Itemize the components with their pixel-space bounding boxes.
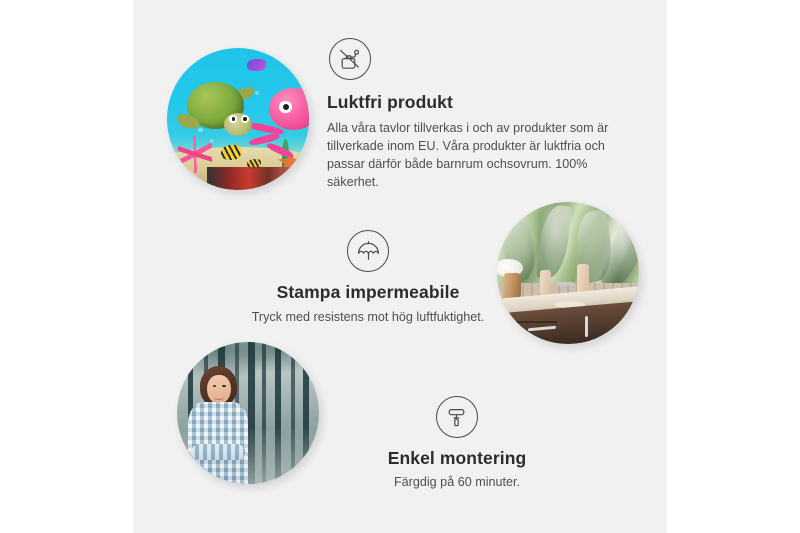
no-fragrance-icon	[329, 38, 371, 80]
woman-eye	[222, 385, 225, 387]
infographic-root: Luktfri produkt Alla våra tavlor tillver…	[0, 0, 800, 533]
infographic-panel: Luktfri produkt Alla våra tavlor tillver…	[133, 0, 667, 533]
woman-plaid-shirt	[188, 402, 248, 484]
bathroom-scene	[497, 202, 639, 344]
feature-waterproof: Stampa impermeabile Tryck med resistens …	[218, 230, 518, 327]
feature-easy-mounting: Enkel montering Färgdig på 60 minuter.	[327, 396, 587, 492]
mural-bottom-strip	[207, 167, 309, 190]
forest-canopy	[177, 342, 319, 407]
cabinet-handle	[585, 315, 588, 337]
feature-title: Stampa impermeabile	[218, 282, 518, 303]
turtle-eye	[241, 115, 249, 123]
umbrella-icon	[347, 230, 389, 272]
woman-eye	[213, 385, 216, 387]
purple-fish	[247, 59, 267, 70]
turtle-eye	[229, 115, 237, 123]
forest-scene	[177, 342, 319, 484]
yellow-striped-fish	[221, 145, 241, 161]
octopus-eye	[279, 101, 292, 114]
ocean-scene	[167, 48, 309, 190]
feature-title: Luktfri produkt	[327, 92, 627, 113]
woman-smile	[214, 395, 224, 400]
woman-crossed-arms	[191, 444, 245, 460]
feature-description: Alla våra tavlor tillverkas i och av pro…	[327, 120, 627, 192]
soap-dish	[525, 300, 542, 306]
feature-odour-free: Luktfri produkt Alla våra tavlor tillver…	[327, 38, 627, 192]
underwater-cartoon-mural-disc	[167, 48, 309, 190]
woman-paint-roller-forest-disc	[177, 342, 319, 484]
bathroom-bottle	[540, 270, 551, 296]
feature-title: Enkel montering	[327, 448, 587, 469]
bathroom-leaf-wallpaper-disc	[497, 202, 639, 344]
feature-description: Tryck med resistens mot hög luftfuktighe…	[218, 309, 518, 327]
faucet	[557, 282, 574, 286]
feature-description: Färgdig på 60 minuter.	[327, 474, 587, 492]
paint-roller-icon	[436, 396, 478, 438]
